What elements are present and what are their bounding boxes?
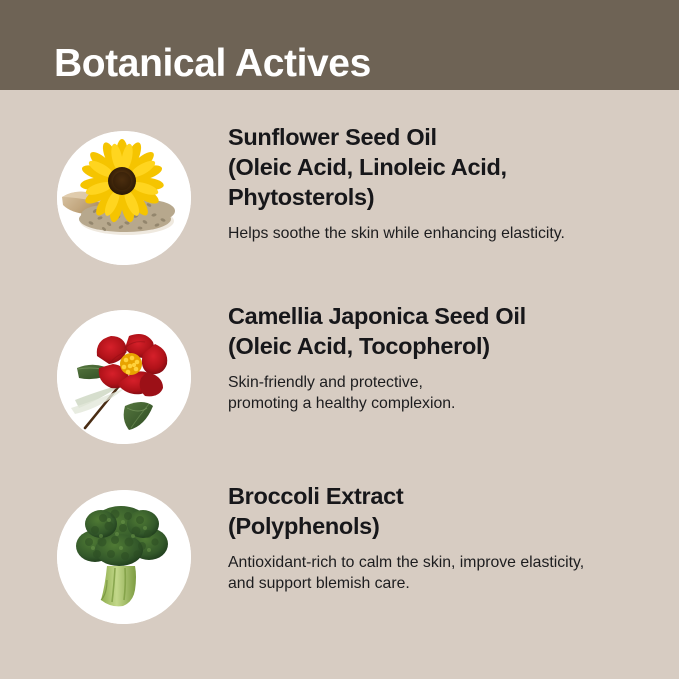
sunflower-icon (57, 131, 191, 265)
camellia-flower-icon (57, 310, 191, 444)
page-title: Botanical Actives (54, 42, 371, 86)
broccoli-icon (57, 490, 191, 624)
item-description: Skin-friendly and protective, promoting … (228, 361, 658, 414)
item-description: Antioxidant-rich to calm the skin, impro… (228, 541, 658, 594)
camellia-japonica-thumbnail (57, 310, 191, 444)
item-description: Helps soothe the skin while enhancing el… (228, 212, 658, 244)
item-text: Camellia Japonica Seed Oil (Oleic Acid, … (228, 301, 658, 414)
sunflower-seed-oil-thumbnail (57, 131, 191, 265)
broccoli-thumbnail (57, 490, 191, 624)
item-text: Sunflower Seed Oil (Oleic Acid, Linoleic… (228, 122, 658, 244)
botanical-actives-infographic: Botanical Actives (0, 0, 679, 679)
item-title: Broccoli Extract (Polyphenols) (228, 481, 658, 541)
item-title: Sunflower Seed Oil (Oleic Acid, Linoleic… (228, 122, 658, 212)
item-title: Camellia Japonica Seed Oil (Oleic Acid, … (228, 301, 658, 361)
item-text: Broccoli Extract (Polyphenols) Antioxida… (228, 481, 658, 594)
